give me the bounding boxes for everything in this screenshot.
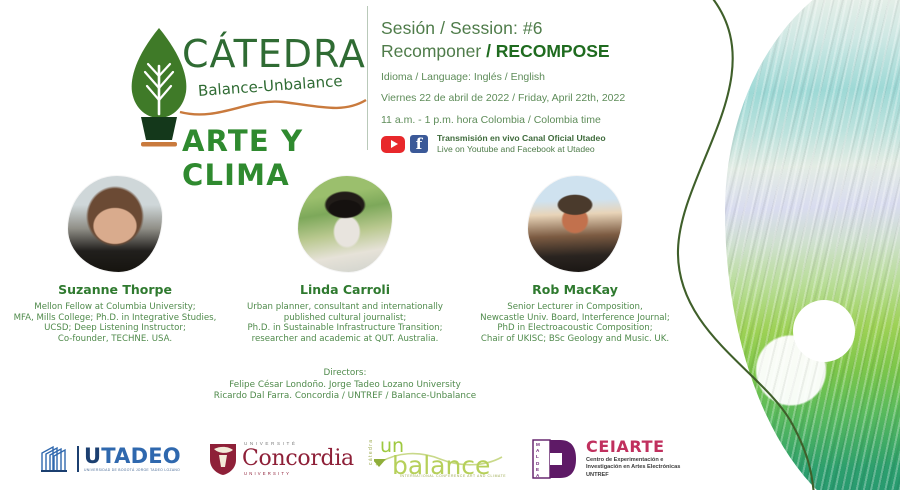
logo-concordia[interactable]: UNIVERSITÉ Concordia UNIVERSITY bbox=[208, 442, 356, 476]
painted-landscape-blob bbox=[725, 0, 900, 490]
avatar bbox=[528, 176, 622, 272]
maldea-icon: MALDEA bbox=[532, 439, 577, 479]
director-2: Ricardo Dal Farra. Concordia / UNTREF / … bbox=[0, 391, 690, 403]
logo-balance-unbalance[interactable]: cátedra un balance INTERNATIONAL CONFERE… bbox=[366, 437, 516, 481]
ceiarte-sub-3: UNTREF bbox=[586, 472, 680, 480]
logo-ceiarte[interactable]: MALDEA CEIARTE Centro de Experimentación… bbox=[532, 439, 680, 480]
brushstroke-texture bbox=[725, 0, 900, 490]
speakers-row: Suzanne Thorpe Mellon Fellow at Columbia… bbox=[0, 176, 690, 344]
ceiarte-sub-2: Investigación en Artes Electrónicas bbox=[586, 464, 680, 472]
broadcast-text-es: Transmisión en vivo Canal Oficial Utadeo bbox=[437, 133, 606, 143]
speaker-card: Linda Carroli Urban planner, consultant … bbox=[230, 176, 460, 344]
utadeo-tagline: UNIVERSIDAD DE BOGOTÁ JORGE TADEO LOZANO bbox=[84, 469, 181, 472]
concordia-name: Concordia bbox=[242, 448, 354, 470]
session-number: Sesión / Session: #6 bbox=[381, 18, 686, 39]
broadcast-text: Transmisión en vivo Canal Oficial Utadeo… bbox=[437, 133, 606, 155]
concordia-shield-icon bbox=[208, 442, 238, 476]
session-title-separator: / bbox=[481, 41, 496, 61]
avatar bbox=[298, 176, 392, 272]
poster-header: CÁTEDRA Balance-Unbalance ARTE Y CLIMA S… bbox=[0, 0, 690, 160]
session-info: Sesión / Session: #6 Recomponer / RECOMP… bbox=[381, 18, 686, 155]
session-date: Viernes 22 de abril de 2022 / Friday, Ap… bbox=[381, 91, 686, 105]
session-title-en: RECOMPOSE bbox=[496, 41, 610, 61]
decorative-artwork bbox=[670, 0, 900, 490]
speaker-bio: Urban planner, consultant and internatio… bbox=[238, 302, 453, 344]
session-title-es: Recomponer bbox=[381, 41, 481, 61]
broadcast-text-en: Live on Youtube and Facebook at Utadeo bbox=[437, 144, 595, 154]
speaker-name: Rob MacKay bbox=[532, 282, 618, 297]
leaf-in-pot-icon bbox=[128, 26, 190, 148]
ceiarte-title: CEIARTE bbox=[586, 439, 680, 455]
directors-heading: Directors: bbox=[0, 368, 690, 380]
header-divider bbox=[367, 6, 368, 150]
speaker-card: Rob MacKay Senior Lecturer in Compositio… bbox=[460, 176, 690, 344]
session-time: 11 a.m. - 1 p.m. hora Colombia / Colombi… bbox=[381, 113, 686, 127]
session-language: Idioma / Language: Inglés / English bbox=[381, 70, 686, 84]
partner-logos: UTADEO UNIVERSIDAD DE BOGOTÁ JORGE TADEO… bbox=[40, 430, 690, 488]
green-curve-line bbox=[670, 0, 900, 490]
speaker-card: Suzanne Thorpe Mellon Fellow at Columbia… bbox=[0, 176, 230, 344]
concordia-bottom-text: UNIVERSITY bbox=[244, 472, 354, 476]
avatar bbox=[68, 176, 162, 272]
catedra-logo: CÁTEDRA Balance-Unbalance ARTE Y CLIMA bbox=[120, 14, 370, 154]
utadeo-initial: U bbox=[84, 444, 101, 468]
artwork-cutout-circle bbox=[793, 300, 855, 362]
utadeo-name: TADEO bbox=[101, 444, 181, 468]
brand-title: CÁTEDRA bbox=[182, 32, 366, 76]
speaker-name: Linda Carroli bbox=[300, 282, 390, 297]
speaker-bio: Senior Lecturer in Composition,Newcastle… bbox=[468, 302, 683, 344]
directors-block: Directors: Felipe César Londoño. Jorge T… bbox=[0, 368, 690, 403]
utadeo-building-icon bbox=[40, 444, 74, 474]
speaker-bio: Mellon Fellow at Columbia University;MFA… bbox=[8, 302, 223, 344]
director-1: Felipe César Londoño. Jorge Tadeo Lozano… bbox=[0, 380, 690, 392]
logo-utadeo[interactable]: UTADEO UNIVERSIDAD DE BOGOTÁ JORGE TADEO… bbox=[40, 444, 190, 474]
broadcast-row: f Transmisión en vivo Canal Oficial Utad… bbox=[381, 133, 686, 155]
facebook-icon[interactable]: f bbox=[410, 135, 428, 153]
maldea-letters: MALDEA bbox=[536, 442, 540, 479]
ceiarte-sub-1: Centro de Experimentación e bbox=[586, 457, 680, 465]
youtube-icon[interactable] bbox=[381, 136, 405, 153]
balance-subtitle: INTERNATIONAL CONFERENCE ART AND CLIMATE bbox=[400, 474, 506, 478]
session-title: Recomponer / RECOMPOSE bbox=[381, 41, 686, 62]
poster-canvas: CÁTEDRA Balance-Unbalance ARTE Y CLIMA S… bbox=[0, 0, 900, 490]
speaker-name: Suzanne Thorpe bbox=[58, 282, 172, 297]
